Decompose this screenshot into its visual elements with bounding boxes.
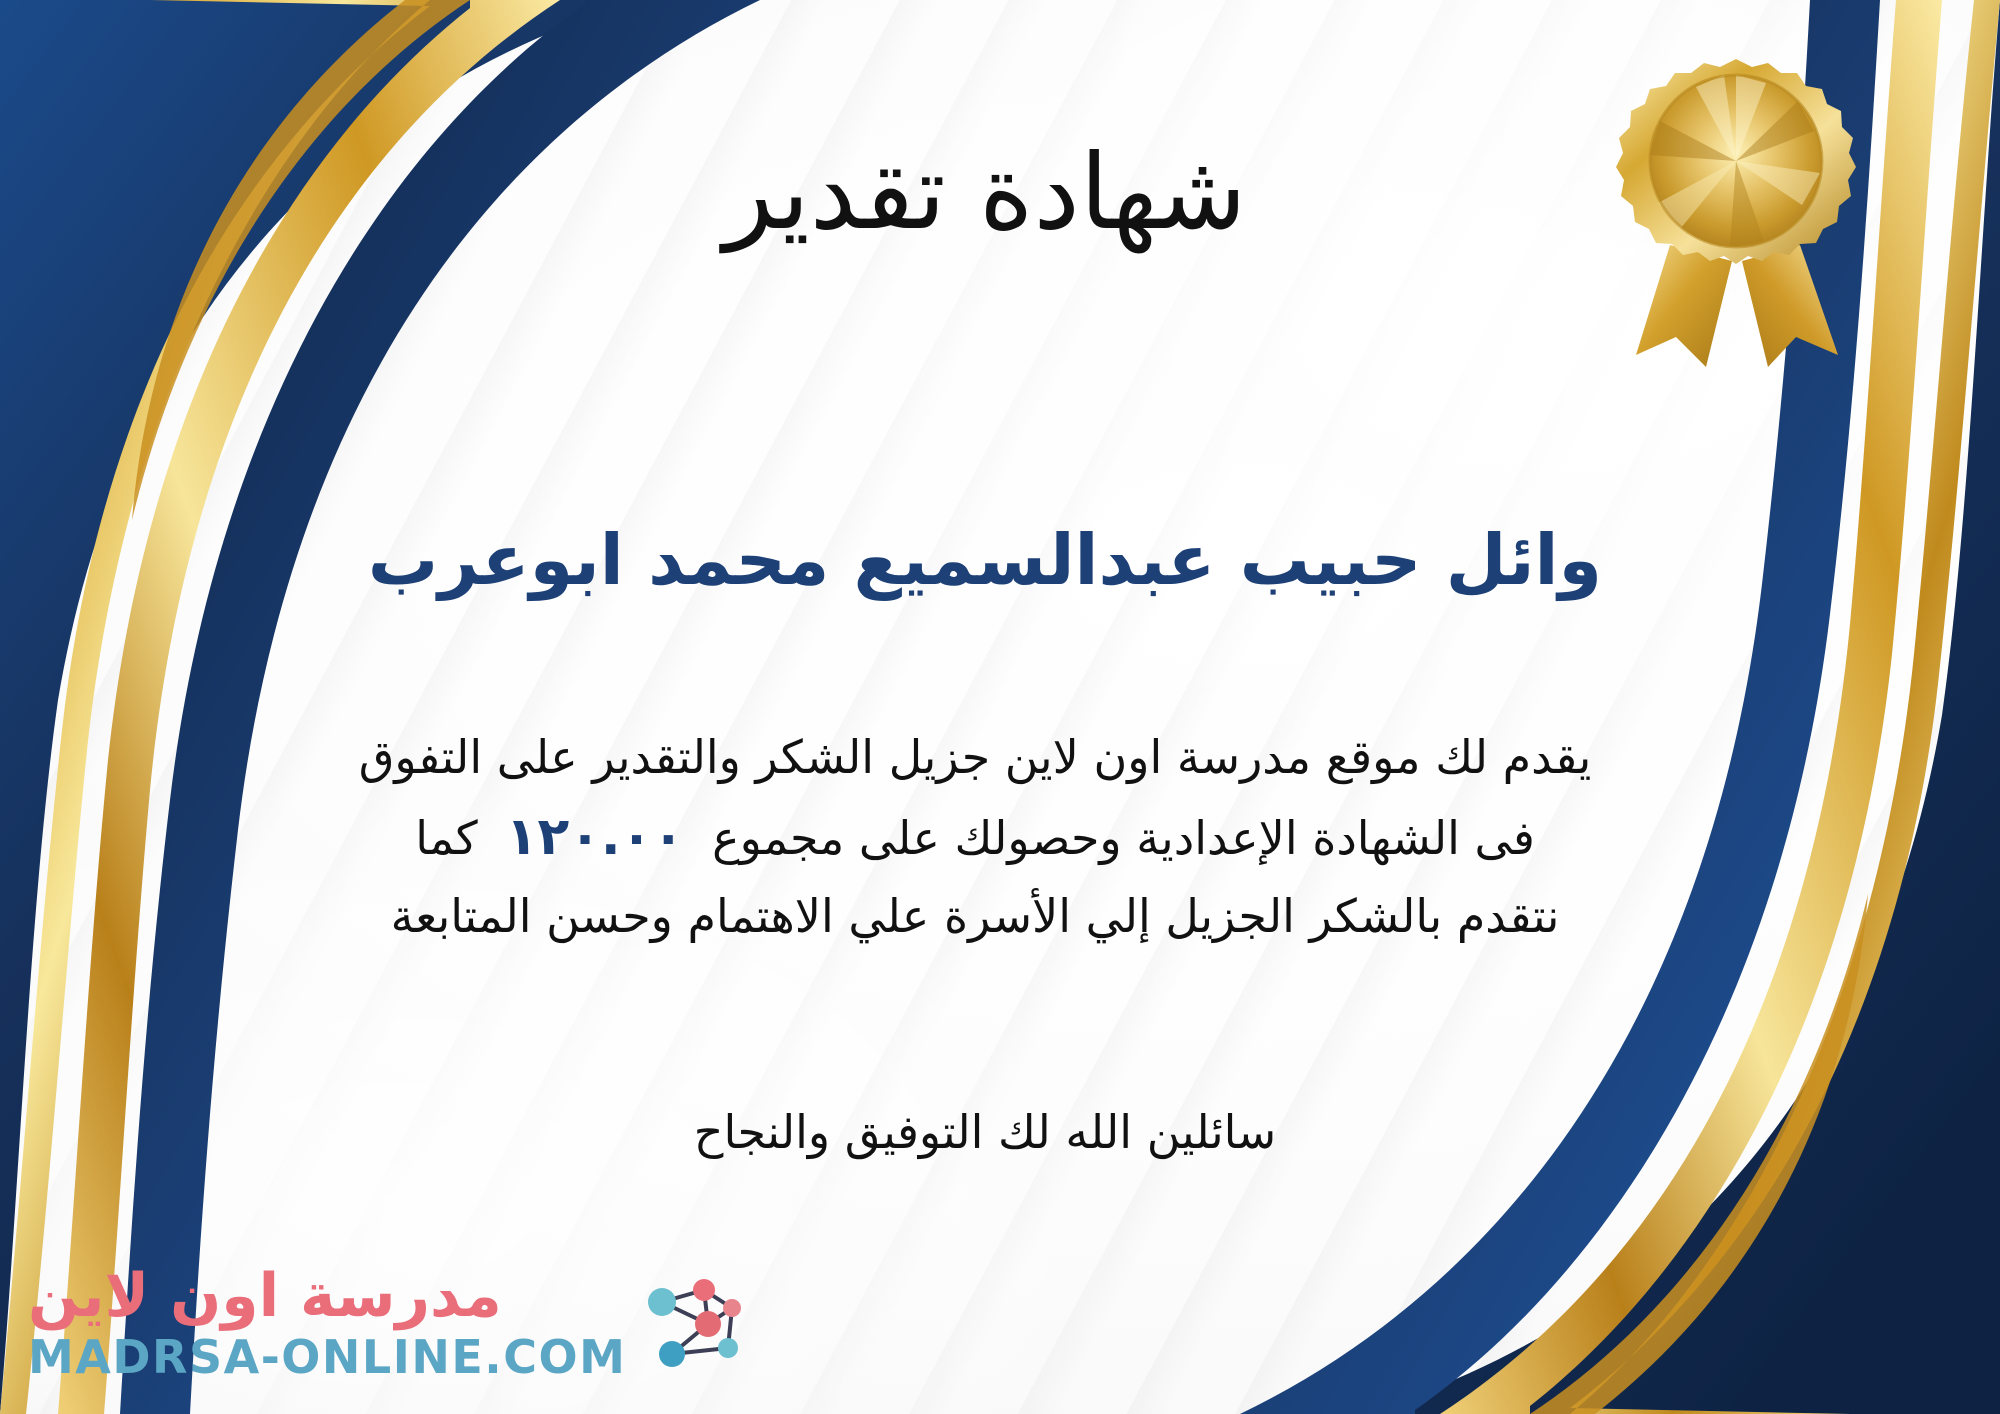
total-score-value: ١٢٠.٠٠ xyxy=(478,807,712,867)
certificate-title: شهادة تقدير xyxy=(120,138,1850,247)
body-line-2: فى الشهادة الإعدادية وحصولك على مجموع١٢٠… xyxy=(70,795,1880,879)
body-line-3: نتقدم بالشكر الجزيل إلي الأسرة علي الاهت… xyxy=(70,879,1880,954)
brand-logo[interactable]: مدرسة اون لاين MADRSA-ONLINE.COM xyxy=(28,1266,754,1380)
recipient-name: وائل حبيب عبدالسميع محمد ابوعرب xyxy=(120,520,1850,601)
body-line-2-prefix: فى الشهادة الإعدادية وحصولك على مجموع xyxy=(712,811,1535,865)
certificate-content: شهادة تقدير وائل حبيب عبدالسميع محمد ابو… xyxy=(120,0,1850,1414)
closing-wish: سائلين الله لك التوفيق والنجاح xyxy=(120,1105,1850,1159)
brand-arabic-name: مدرسة اون لاين xyxy=(28,1266,502,1326)
brand-website-url: MADRSA-ONLINE.COM xyxy=(28,1334,626,1380)
certificate-page: شهادة تقدير وائل حبيب عبدالسميع محمد ابو… xyxy=(0,0,2000,1414)
body-line-2-suffix: كما xyxy=(415,811,478,865)
certificate-body: يقدم لك موقع مدرسة اون لاين جزيل الشكر و… xyxy=(70,720,1880,953)
brand-wordmark: مدرسة اون لاين MADRSA-ONLINE.COM xyxy=(28,1266,626,1380)
network-nodes-icon xyxy=(636,1268,754,1378)
body-line-1: يقدم لك موقع مدرسة اون لاين جزيل الشكر و… xyxy=(70,720,1880,795)
